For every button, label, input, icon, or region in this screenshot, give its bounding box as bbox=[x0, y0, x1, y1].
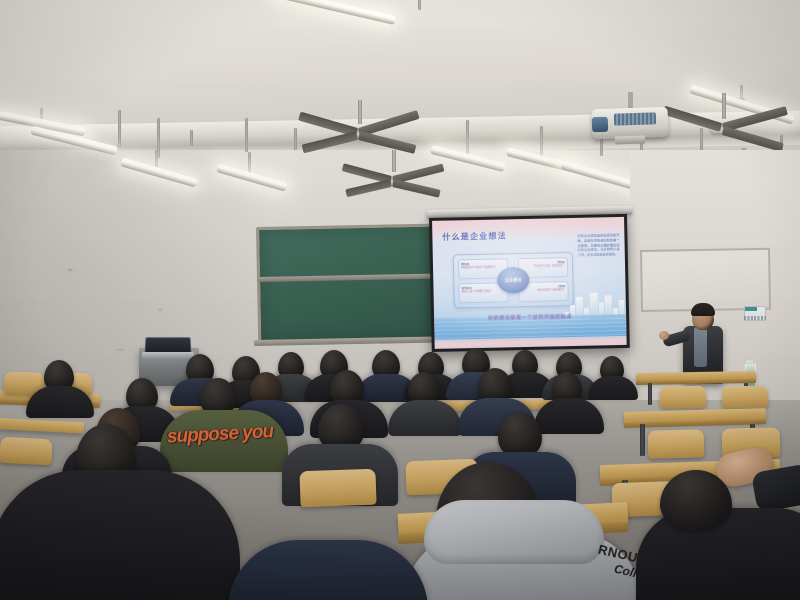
chair-back[interactable] bbox=[648, 429, 705, 458]
foreground-black-coat bbox=[0, 470, 240, 600]
projector-lens-icon bbox=[592, 117, 609, 133]
presentation-slide: 什么是企业想法 好的企业想法是创业成功的开端，是避免风险和失败的第一道屏障。如果… bbox=[432, 217, 627, 349]
wall-sign-text bbox=[744, 316, 766, 320]
light-rod bbox=[418, 0, 421, 10]
projector-glare bbox=[432, 217, 627, 349]
jacket-graffiti-text: suppose you bbox=[165, 417, 274, 453]
projector-vent bbox=[614, 112, 656, 125]
laptop-keyboard[interactable] bbox=[142, 352, 194, 359]
presenter-hair bbox=[691, 303, 715, 316]
light-rod bbox=[540, 126, 543, 158]
chair-back[interactable] bbox=[660, 386, 706, 409]
wall-sign-icon bbox=[745, 307, 757, 311]
fan-downrod bbox=[358, 100, 362, 126]
fan-downrod bbox=[392, 150, 396, 174]
foreground-student-head bbox=[660, 470, 732, 530]
presenter-hand bbox=[659, 331, 669, 340]
light-rod bbox=[190, 130, 193, 146]
light-rod bbox=[294, 128, 297, 150]
light-rod bbox=[245, 118, 248, 152]
presenter-shirt bbox=[694, 327, 707, 367]
fan-downrod bbox=[722, 93, 726, 121]
blackboard-main-panel bbox=[256, 224, 438, 345]
chair-back[interactable] bbox=[722, 386, 768, 409]
lecture-hall-photo: 什么是企业想法 好的企业想法是创业成功的开端，是避免风险和失败的第一道屏障。如果… bbox=[0, 0, 800, 600]
projection-screen[interactable]: 什么是企业想法 好的企业想法是创业成功的开端，是避免风险和失败的第一道屏障。如果… bbox=[429, 214, 630, 352]
desk-leg bbox=[648, 383, 652, 405]
light-rod bbox=[466, 120, 469, 156]
chair-back[interactable] bbox=[0, 437, 53, 466]
projector-bracket bbox=[615, 135, 645, 144]
hoodie-hood bbox=[424, 500, 604, 564]
desk-leg bbox=[640, 424, 645, 456]
chair-back[interactable] bbox=[299, 469, 376, 508]
light-rod bbox=[118, 110, 121, 148]
